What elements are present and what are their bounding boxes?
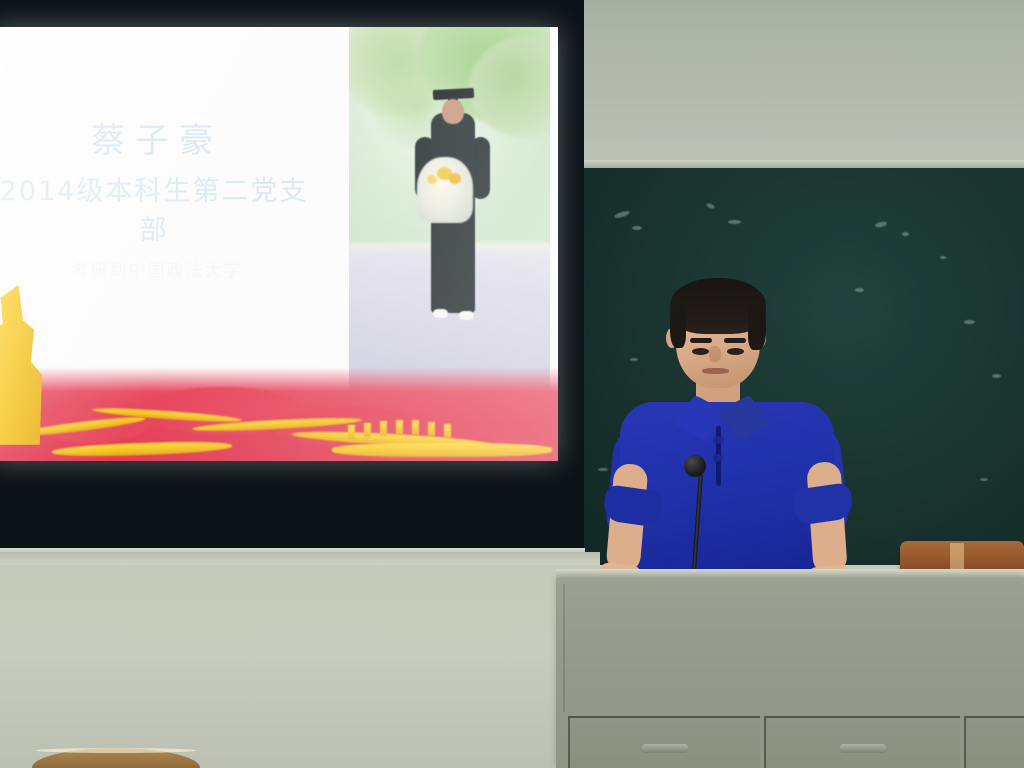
slide-text-block: 蔡子豪 2014级本科生第二党支部 考研到中国政法大学 [0, 113, 322, 281]
drawer-left[interactable] [568, 716, 760, 768]
projected-slide: 蔡子豪 2014级本科生第二党支部 考研到中国政法大学 [0, 27, 558, 461]
drawer-right[interactable] [764, 716, 960, 768]
slide-subtitle: 2014级本科生第二党支部 [0, 169, 322, 247]
drawer-handle-right[interactable] [840, 744, 886, 753]
slide-title: 蔡子豪 [0, 113, 322, 162]
slide-tagline: 考研到中国政法大学 [0, 256, 322, 281]
presenter [604, 276, 864, 586]
gooseneck-microphone [684, 455, 706, 477]
slide-gold-gate-motif [0, 285, 42, 445]
drawer-far-right[interactable] [964, 716, 1024, 768]
classroom-presentation-photo: 蔡子豪 2014级本科生第二党支部 考研到中国政法大学 [0, 0, 1024, 768]
drawer-handle-left[interactable] [642, 744, 688, 753]
slide-graduation-photo [349, 27, 550, 405]
slide-great-wall-motif [0, 387, 558, 461]
projection-screen-frame: 蔡子豪 2014级本科生第二党支部 考研到中国政法大学 [0, 0, 584, 556]
